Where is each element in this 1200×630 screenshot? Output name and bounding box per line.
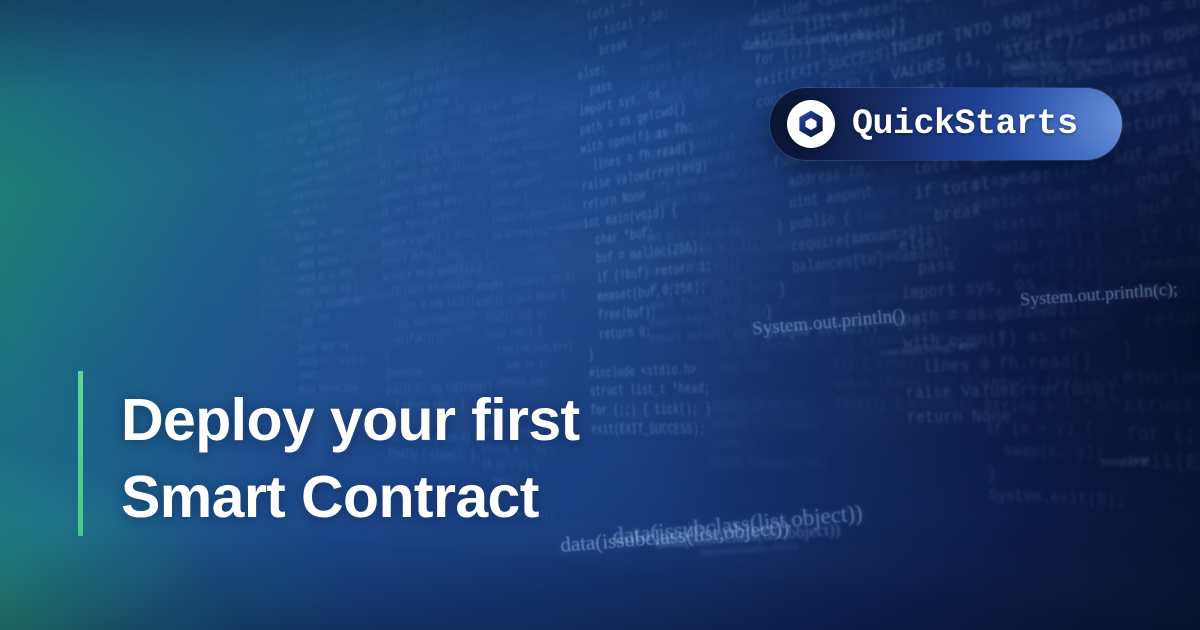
quickstarts-badge[interactable]: QuickStarts [770, 88, 1122, 160]
page-title: Deploy your first Smart Contract [121, 382, 741, 536]
page-title-line-2: Smart Contract [121, 459, 741, 536]
page-title-line-1: Deploy your first [121, 382, 741, 459]
social-card-canvas: public class Main { static int n; void r… [0, 0, 1200, 630]
chainlink-hexagon-logo-icon [787, 100, 835, 148]
quickstarts-badge-label: QuickStarts [852, 104, 1078, 144]
green-accent-bar [78, 371, 83, 536]
